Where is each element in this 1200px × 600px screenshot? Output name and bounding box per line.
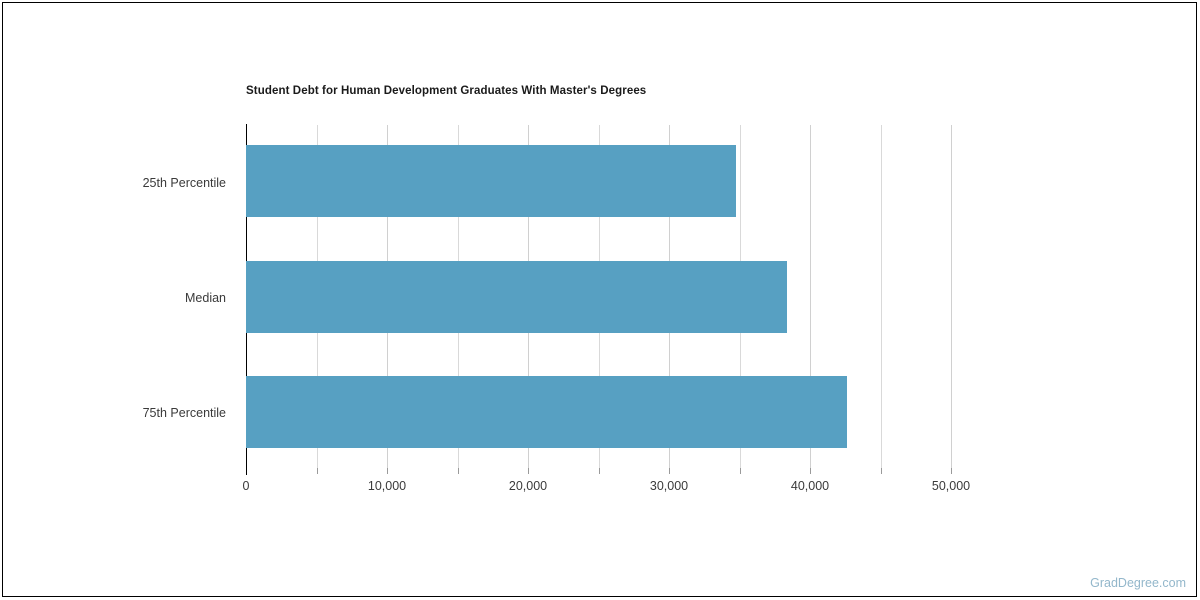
chart-title: Student Debt for Human Development Gradu… [246,85,646,97]
bar-75th-percentile [246,376,847,448]
x-axis: 0 10,000 20,000 30,000 40,000 50,000 [246,468,966,508]
x-tick-label-10000: 10,000 [368,479,406,493]
x-tick-20000 [528,468,529,474]
x-tick-5000 [317,468,318,474]
x-tick-35000 [740,468,741,474]
bar-25th-percentile [246,145,736,217]
plot-area [246,125,954,468]
x-tick-15000 [458,468,459,474]
x-tick-50000 [951,468,952,474]
chart-screenshot: Student Debt for Human Development Gradu… [0,0,1200,600]
watermark-graddegree: GradDegree.com [1090,576,1186,590]
x-tick-45000 [881,468,882,474]
x-tick-label-20000: 20,000 [509,479,547,493]
x-tick-25000 [599,468,600,474]
x-tick-0 [246,468,247,475]
x-tick-label-0: 0 [243,479,250,493]
x-tick-30000 [669,468,670,474]
y-tick-label-median: Median [185,291,226,305]
x-tick-label-50000: 50,000 [932,479,970,493]
x-tick-40000 [810,468,811,474]
y-tick-label-25th-percentile: 25th Percentile [143,176,226,190]
gridline-50000 [951,125,952,468]
y-axis-labels: 25th Percentile Median 75th Percentile [0,125,236,468]
bar-median [246,261,787,333]
x-tick-label-40000: 40,000 [791,479,829,493]
x-tick-10000 [387,468,388,474]
gridline-45000 [881,125,882,468]
x-tick-label-30000: 30,000 [650,479,688,493]
y-tick-label-75th-percentile: 75th Percentile [143,406,226,420]
